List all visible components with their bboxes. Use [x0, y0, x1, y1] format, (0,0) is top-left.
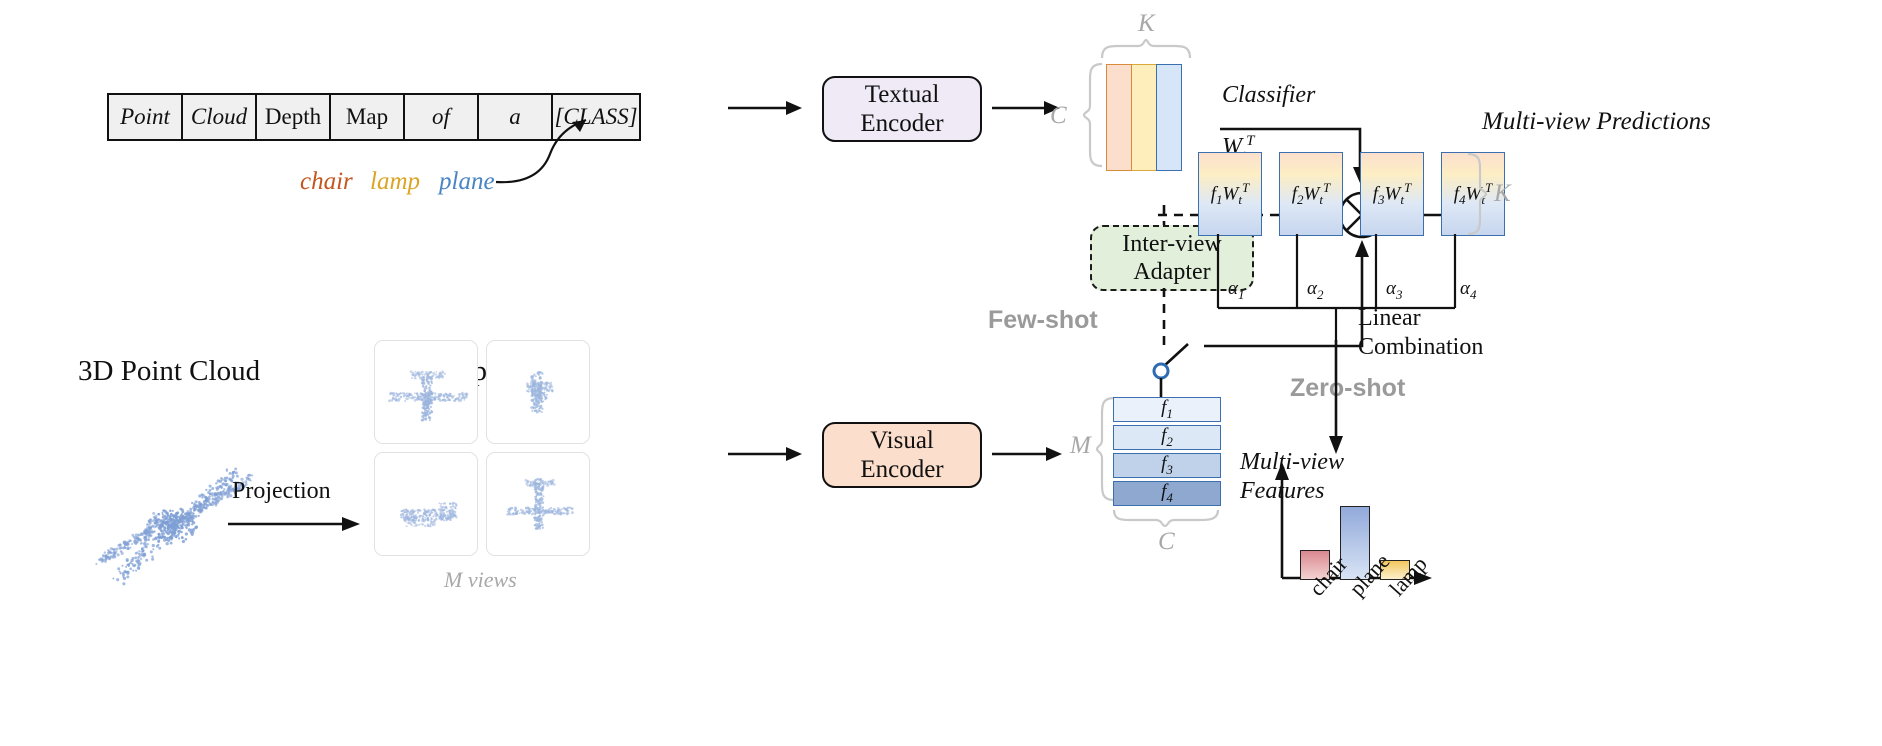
- visual-encoder-line2: Encoder: [860, 455, 943, 485]
- prompt-token-1[interactable]: Cloud: [183, 95, 257, 139]
- textual-encoder-line1: Textual: [865, 80, 940, 110]
- alpha-weight-3: α3: [1386, 278, 1402, 303]
- alpha-weight-2: α2: [1307, 278, 1323, 303]
- class-word-plane[interactable]: plane: [439, 168, 495, 196]
- feature-row-4: f4: [1113, 481, 1221, 506]
- lamp-column: [1132, 64, 1156, 171]
- few-shot-label: Few-shot: [988, 306, 1098, 335]
- feature-row-1: f1: [1113, 397, 1221, 422]
- textual-encoder-line2: Encoder: [860, 109, 943, 139]
- mv-features-caption-line2: Features: [1240, 477, 1344, 506]
- depth-map-grid: [374, 340, 590, 556]
- few-shot-zero-shot-switch[interactable]: [1136, 342, 1206, 404]
- classifier-c-label: C: [1050, 102, 1067, 130]
- classifier-name-label: Classifier: [1222, 82, 1315, 109]
- textual-encoder-box[interactable]: Textual Encoder: [822, 76, 982, 142]
- classifier-c-brace: [1082, 62, 1104, 172]
- prompt-token-3[interactable]: Map: [331, 95, 405, 139]
- chair-column: [1106, 64, 1132, 171]
- depth-map-view-4: [486, 452, 590, 556]
- class-word-lamp[interactable]: lamp: [370, 168, 420, 196]
- prediction-box-3: f3WtT: [1360, 152, 1424, 236]
- multi-view-predictions-title: Multi-view Predictions: [1482, 108, 1711, 136]
- multi-view-feature-rows: f1f2f3f4: [1113, 397, 1221, 506]
- prompt-token-2[interactable]: Depth: [257, 95, 331, 139]
- prediction-box-2: f2WtT: [1279, 152, 1343, 236]
- visual-encoder-line1: Visual: [870, 426, 934, 456]
- projection-label: Projection: [232, 478, 331, 505]
- chart-tick-labels: chairplanelamp: [1268, 578, 1468, 648]
- class-word-chair[interactable]: chair: [300, 168, 353, 196]
- feature-row-2: f2: [1113, 425, 1221, 450]
- visual-encoder-box[interactable]: Visual Encoder: [822, 422, 982, 488]
- alpha-weight-4: α4: [1460, 278, 1476, 303]
- predictions-k-label: K: [1494, 180, 1511, 208]
- prompt-token-4[interactable]: of: [405, 95, 479, 139]
- prompt-token-0[interactable]: Point: [109, 95, 183, 139]
- class-word-list: chairlampplane: [0, 168, 1882, 202]
- features-c-label: C: [1158, 528, 1175, 556]
- features-c-brace: [1112, 508, 1222, 528]
- classword-to-class-arrow: [490, 110, 620, 200]
- linear-combination-line1: Linear: [1358, 304, 1483, 333]
- views-caption: M views: [444, 567, 517, 593]
- linear-combination-line2: Combination: [1358, 333, 1483, 362]
- depth-map-view-1: [374, 340, 478, 444]
- linear-combination-arrow: [1328, 340, 1350, 458]
- multi-view-prediction-boxes: f1WtTf2WtTf3WtTf4WtT: [1198, 152, 1505, 236]
- point-cloud-title: 3D Point Cloud: [78, 355, 260, 388]
- feature-row-3: f3: [1113, 453, 1221, 478]
- features-m-label: M: [1070, 432, 1091, 460]
- arrow-prompt-to-textual-encoder: [728, 96, 808, 120]
- depth-map-view-2: [486, 340, 590, 444]
- adapter-dashed-vertical-bottom: [1160, 288, 1168, 350]
- arrow-depthmaps-to-visual-encoder: [728, 442, 808, 466]
- alpha-weight-1: α1: [1228, 278, 1244, 303]
- classifier-weight-matrix: [1106, 64, 1182, 169]
- classifier-k-label: K: [1138, 10, 1155, 38]
- arrow-visual-encoder-to-features: [992, 442, 1068, 466]
- prediction-box-1: f1WtT: [1198, 152, 1262, 236]
- depth-map-view-3: [374, 452, 478, 556]
- plane-column: [1156, 64, 1182, 171]
- mv-features-caption-line1: Multi-view: [1240, 448, 1344, 477]
- classifier-k-brace: [1100, 38, 1192, 60]
- multi-view-features-caption: Multi-view Features: [1240, 448, 1344, 507]
- projection-arrow: [228, 512, 368, 536]
- linear-combination-label: Linear Combination: [1358, 304, 1483, 363]
- predictions-k-brace: [1466, 152, 1488, 236]
